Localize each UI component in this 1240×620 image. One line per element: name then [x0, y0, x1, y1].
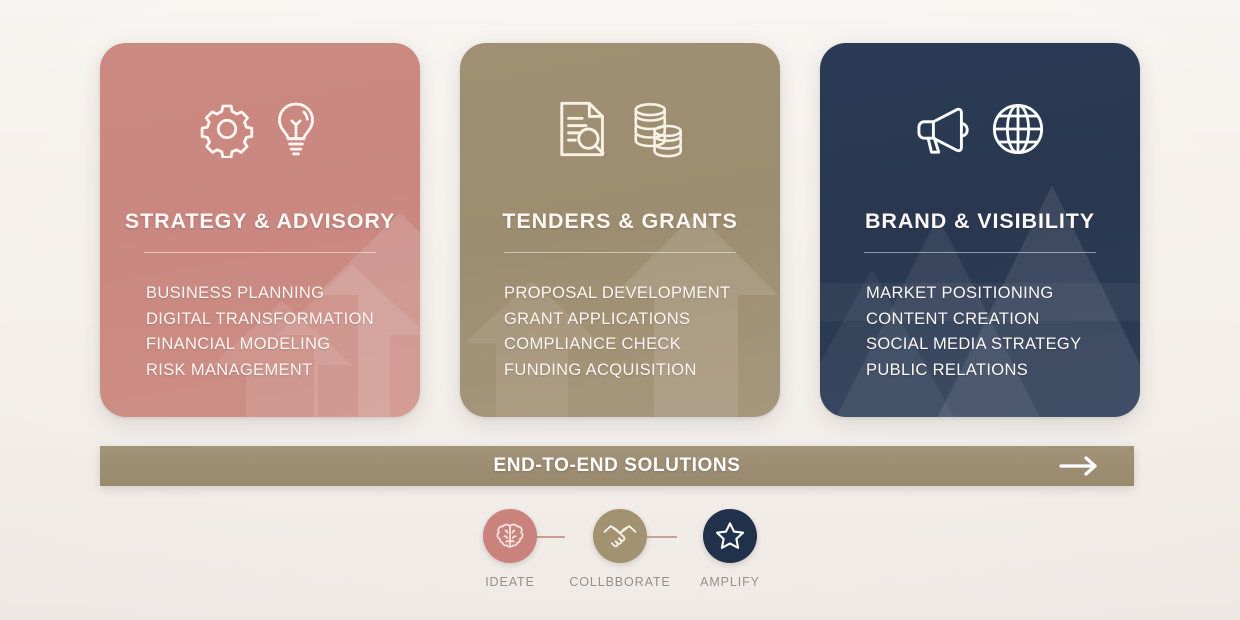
step-label: AMPLIFY: [700, 575, 760, 589]
step-circle: [593, 509, 647, 563]
coin-stack-icon: [629, 99, 685, 159]
card-icon-row: [198, 87, 322, 171]
lightbulb-icon: [270, 100, 322, 158]
card-tenders-grants[interactable]: TENDERS & GRANTS PROPOSAL DEVELOPMENT GR…: [460, 43, 780, 417]
card-brand-visibility[interactable]: BRAND & VISIBILITY MARKET POSITIONING CO…: [820, 43, 1140, 417]
list-item: FUNDING ACQUISITION: [504, 358, 750, 384]
list-item: FINANCIAL MODELING: [146, 332, 390, 358]
card-title: TENDERS & GRANTS: [502, 209, 737, 234]
card-divider: [144, 252, 376, 253]
list-item: COMPLIANCE CHECK: [504, 332, 750, 358]
card-feature-list: BUSINESS PLANNING DIGITAL TRANSFORMATION…: [130, 281, 390, 383]
card-icon-row: [555, 87, 685, 171]
list-item: BUSINESS PLANNING: [146, 281, 390, 307]
list-item: MARKET POSITIONING: [866, 281, 1110, 307]
list-item: DIGITAL TRANSFORMATION: [146, 307, 390, 333]
list-item: SOCIAL MEDIA STRATEGY: [866, 332, 1110, 358]
document-search-icon: [555, 98, 615, 160]
step-circle: [703, 509, 757, 563]
list-item: PROPOSAL DEVELOPMENT: [504, 281, 750, 307]
process-steps: IDEATE COLLBBORATE: [0, 509, 1240, 589]
end-to-end-banner[interactable]: END-TO-END SOLUTIONS: [100, 446, 1134, 486]
list-item: PUBLIC RELATIONS: [866, 358, 1110, 384]
card-divider: [504, 252, 736, 253]
gear-icon: [198, 100, 256, 158]
step-ideate[interactable]: IDEATE: [455, 509, 565, 589]
handshake-icon: [602, 521, 638, 551]
card-feature-list: PROPOSAL DEVELOPMENT GRANT APPLICATIONS …: [490, 281, 750, 383]
card-title: BRAND & VISIBILITY: [865, 209, 1095, 234]
card-feature-list: MARKET POSITIONING CONTENT CREATION SOCI…: [850, 281, 1110, 383]
step-label: IDEATE: [485, 575, 535, 589]
brain-icon: [493, 519, 527, 553]
card-divider: [864, 252, 1096, 253]
step-amplify[interactable]: AMPLIFY: [675, 509, 785, 589]
banner-label: END-TO-END SOLUTIONS: [493, 455, 740, 477]
list-item: GRANT APPLICATIONS: [504, 307, 750, 333]
step-circle: [483, 509, 537, 563]
star-icon: [714, 520, 746, 552]
card-strategy-advisory[interactable]: STRATEGY & ADVISORY BUSINESS PLANNING DI…: [100, 43, 420, 417]
card-icon-row: [914, 87, 1046, 171]
list-item: RISK MANAGEMENT: [146, 358, 390, 384]
megaphone-icon: [914, 101, 976, 157]
card-title: STRATEGY & ADVISORY: [125, 209, 395, 234]
step-label: COLLBBORATE: [569, 575, 670, 589]
list-item: CONTENT CREATION: [866, 307, 1110, 333]
globe-icon: [990, 101, 1046, 157]
step-collaborate[interactable]: COLLBBORATE: [565, 509, 675, 589]
arrow-right-icon: [1058, 455, 1100, 477]
service-cards-row: STRATEGY & ADVISORY BUSINESS PLANNING DI…: [100, 43, 1140, 417]
